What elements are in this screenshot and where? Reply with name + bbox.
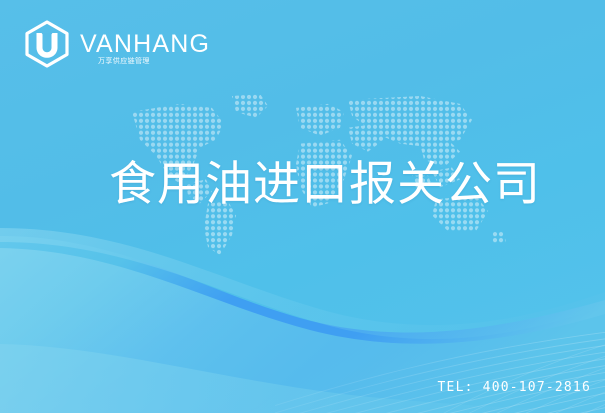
logo-text-group: VANHANG 万享供应链管理	[80, 32, 210, 57]
brand-logo[interactable]: VANHANG 万享供应链管理	[22, 18, 210, 70]
promo-banner: VANHANG 万享供应链管理 食用油进口报关公司 TEL: 400-107-2…	[0, 0, 605, 413]
logo-subtext: 万享供应链管理	[98, 58, 150, 65]
hexagon-v-icon	[22, 19, 72, 69]
telephone-text: TEL: 400-107-2816	[438, 380, 591, 395]
logo-wordmark: VANHANG	[80, 32, 210, 57]
headline-title: 食用油进口报关公司	[109, 160, 541, 209]
